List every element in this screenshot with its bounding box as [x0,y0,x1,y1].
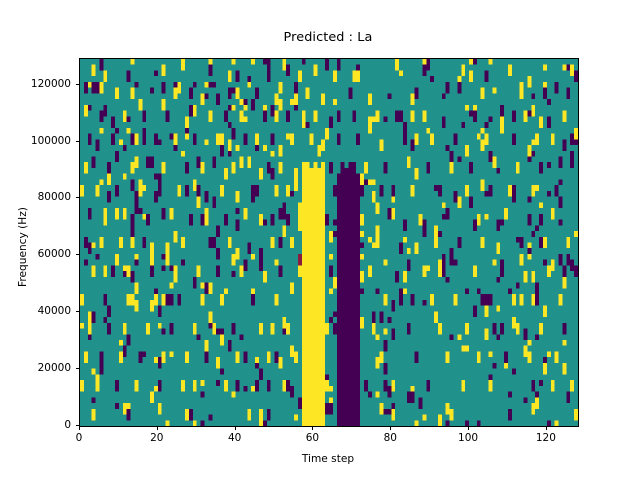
y-tick-label: 100000 [1,135,71,147]
x-tick-label: 60 [306,432,319,444]
y-tick-label: 60000 [1,248,71,260]
x-tick-label: 40 [228,432,241,444]
x-tick-mark [157,426,158,430]
y-tick-label: 120000 [1,78,71,90]
x-tick-label: 100 [458,432,478,444]
x-axis-label: Time step [79,453,577,465]
figure-canvas: Predicted : La Frequency (Hz) Time step … [0,0,640,480]
y-tick-mark [76,254,80,255]
x-tick-mark [390,426,391,430]
x-tick-label: 20 [150,432,163,444]
x-tick-label: 80 [384,432,397,444]
y-tick-label: 0 [1,419,71,431]
y-tick-mark [76,368,80,369]
x-tick-mark [79,426,80,430]
y-tick-label: 40000 [1,305,71,317]
y-tick-mark [76,141,80,142]
x-tick-mark [235,426,236,430]
y-tick-mark [76,197,80,198]
y-tick-label: 80000 [1,191,71,203]
chart-title: Predicted : La [79,30,577,45]
x-tick-label: 0 [76,432,83,444]
x-tick-mark [546,426,547,430]
y-tick-mark [76,84,80,85]
y-tick-mark [76,311,80,312]
x-tick-mark [312,426,313,430]
heatmap-image [80,59,578,426]
y-tick-label: 20000 [1,362,71,374]
x-tick-label: 120 [536,432,556,444]
heatmap-plot-area[interactable] [79,58,579,427]
x-tick-mark [468,426,469,430]
